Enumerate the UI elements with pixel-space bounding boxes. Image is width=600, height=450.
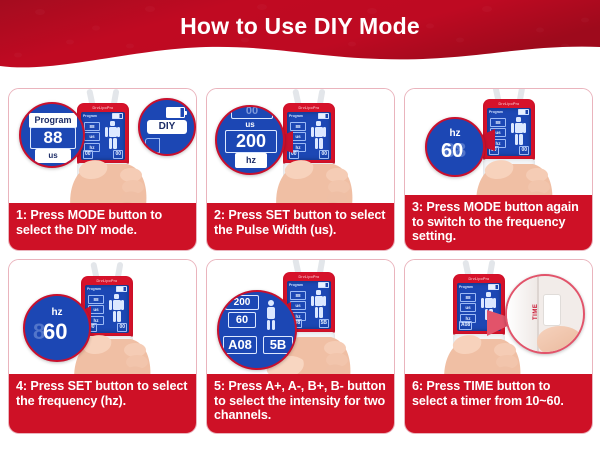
step-4-photo: DrvLipoPro Program 88 us hz: [9, 260, 196, 374]
lcd-body-figure-icon: [263, 300, 279, 330]
callout-freqval-value-box: 60: [43, 320, 81, 344]
callout-pulse-top-ghost: 00: [231, 105, 273, 119]
lcd-program-label: Program: [489, 110, 503, 114]
step-4-caption: 4: Press SET button to select the freque…: [9, 374, 196, 433]
callout-pulse-value-box: 200: [225, 130, 277, 153]
device-brand: DrvLipoPro: [483, 102, 535, 106]
callout-intensity-top-box: 200: [225, 295, 259, 310]
callout-freqmode-label-box: hz: [440, 127, 470, 140]
step-card-3[interactable]: DrvLipoPro Program 88 us hz: [404, 88, 593, 251]
callout-pulse-width[interactable]: 00 us 200 hz: [215, 105, 285, 175]
callout-intensity-channel-a-box: A08: [223, 336, 257, 354]
lcd-top-bar: Program: [489, 110, 529, 115]
step-5-photo: DrvLipoPro Program 88 us hz: [207, 260, 394, 374]
step-3-caption: 3: Press MODE button again to switch to …: [405, 195, 592, 250]
device-brand: DrvLipoPro: [283, 275, 335, 279]
callout-program-value-box: 88: [30, 127, 76, 149]
step-1-caption: 1: Press MODE button to select the DIY m…: [9, 203, 196, 250]
callout-pulse-unit-box: hz: [235, 153, 267, 168]
callout-program-label: Program: [34, 115, 71, 125]
callout-intensity-pulse: 200: [234, 297, 251, 308]
callout-freqval-value: 60: [43, 319, 67, 344]
callout-channel-b-value: 5B: [270, 337, 287, 352]
callout-freqmode-value: 60: [441, 140, 463, 162]
thumb-tip: [537, 326, 583, 354]
callout-diy[interactable]: DIY: [138, 98, 196, 156]
step-card-2[interactable]: DrvLipoPro Program 88 us hz: [206, 88, 395, 251]
step-1-photo: DrvLipoPro Program 88 us hz: [9, 89, 196, 203]
steps-grid: DrvLipoPro Program 88 us hz: [8, 88, 592, 434]
time-button[interactable]: [543, 294, 561, 326]
callout-channel-a-value: A08: [228, 337, 252, 352]
callout-program-unit: us: [48, 151, 57, 160]
page-title: How to Use DIY Mode: [0, 13, 600, 40]
step-card-1[interactable]: DrvLipoPro Program 88 us hz: [8, 88, 197, 251]
device-brand: DrvLipoPro: [77, 106, 129, 110]
callout-pulse-value: 200: [236, 131, 266, 151]
callout-pulse-unit: hz: [246, 155, 256, 165]
callout-frequency-value[interactable]: hz 8 60: [23, 294, 91, 362]
step-card-5[interactable]: DrvLipoPro Program 88 us hz: [206, 259, 395, 434]
callout-frequency-mode[interactable]: hz 88 60: [425, 117, 485, 177]
callout-intensity[interactable]: 200 60 A08 5B: [217, 290, 297, 370]
page-header: How to Use DIY Mode: [0, 0, 600, 82]
callout-program[interactable]: Program 88 us: [19, 102, 85, 168]
device-brand: DrvLipoPro: [81, 279, 133, 283]
callout-diy-chip: DIY: [147, 120, 187, 134]
callout-time-button[interactable]: TIME: [505, 274, 585, 354]
callout-pulse-ghost-value: 00: [246, 105, 258, 117]
callout-intensity-mid-box: 60: [228, 312, 256, 328]
step-5-caption: 5: Press A+, A-, B+, B- button to select…: [207, 374, 394, 433]
callout-diy-label: DIY: [159, 121, 176, 132]
callout-intensity-channel-b-box: 5B: [263, 336, 293, 354]
callout-freqmode-value-box: 60: [441, 140, 479, 162]
time-button-label: TIME: [533, 304, 539, 320]
callout-diy-corner-mark: [145, 138, 160, 153]
step-6-caption: 6: Press TIME button to select a timer f…: [405, 374, 592, 433]
device-brand: DrvLipoPro: [453, 277, 505, 281]
step-card-6[interactable]: DrvLipoPro Program 88 us hz: [404, 259, 593, 434]
step-2-photo: DrvLipoPro Program 88 us hz: [207, 89, 394, 203]
callout-pulse-label: us: [245, 120, 254, 129]
callout-freqmode-label: hz: [449, 128, 460, 139]
callout-program-unit-box: us: [35, 149, 71, 163]
step-3-photo: DrvLipoPro Program 88 us hz: [405, 89, 592, 195]
callout-program-value: 88: [44, 128, 63, 147]
battery-icon: [166, 107, 185, 118]
callout-freqval-label-box: hz: [42, 306, 72, 319]
step-card-4[interactable]: DrvLipoPro Program 88 us hz: [8, 259, 197, 434]
step-2-caption: 2: Press SET button to select the Pulse …: [207, 203, 394, 250]
step-6-photo: DrvLipoPro Program 88 us hz: [405, 260, 592, 374]
device-brand: DrvLipoPro: [283, 106, 335, 110]
callout-freqval-label: hz: [51, 307, 62, 318]
callout-intensity-freq: 60: [236, 314, 248, 326]
callout-program-label-box: Program: [29, 113, 77, 128]
